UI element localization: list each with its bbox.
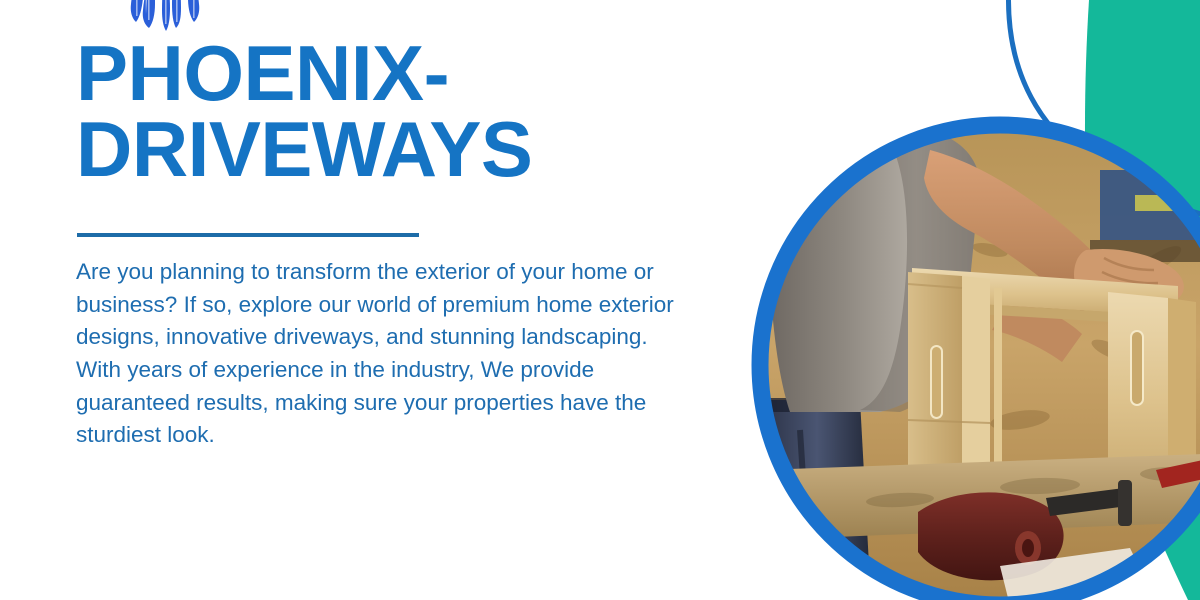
hero-banner: PHOENIX-DRIVEWAYS Are you planning to tr… <box>0 0 1200 600</box>
headline-line-2: DRIVEWAYS <box>76 105 532 193</box>
hero-content: PHOENIX-DRIVEWAYS Are you planning to tr… <box>76 0 706 600</box>
intro-paragraph: Are you planning to transform the exteri… <box>76 256 690 452</box>
hero-photo <box>760 120 1200 600</box>
photo-ring <box>760 125 1200 600</box>
hero-photo-circle <box>760 120 1200 600</box>
page-title: PHOENIX-DRIVEWAYS <box>76 36 696 187</box>
teal-accent-shape <box>1085 0 1200 600</box>
title-divider <box>77 233 419 237</box>
thin-blue-arc <box>1008 0 1200 215</box>
